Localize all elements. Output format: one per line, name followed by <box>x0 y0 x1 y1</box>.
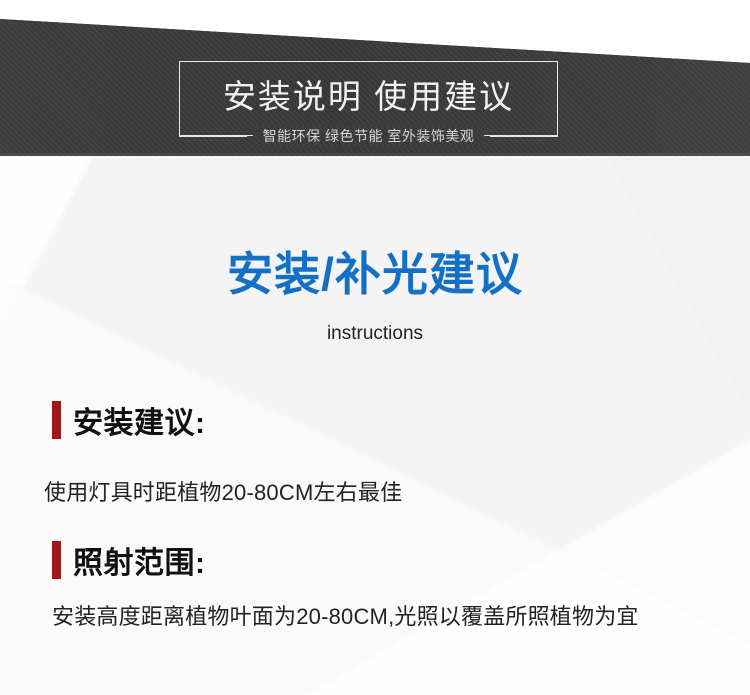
section-coverage-body: 安装高度距离植物叶面为20-80CM,光照以覆盖所照植物为宜 <box>52 601 732 633</box>
section-coverage-heading: 照射范围: <box>52 540 206 580</box>
section-install-body: 使用灯具时距植物20-80CM左右最佳 <box>44 477 704 509</box>
section-coverage-range: 照射范围: <box>52 540 206 580</box>
section-install-heading: 安装建议: <box>52 400 206 440</box>
page-title-english: instructions <box>0 323 750 345</box>
section-install-title: 安装建议: <box>73 398 206 442</box>
section-coverage-title: 照射范围: <box>73 538 206 582</box>
content-area: 安装/补光建议 instructions 安装建议: 使用灯具时距植物20-80… <box>0 156 750 695</box>
red-bar-icon <box>52 401 61 439</box>
subtitle-rule-left <box>179 136 247 138</box>
section-install-advice: 安装建议: <box>52 400 206 440</box>
product-detail-page: 安装说明 使用建议 智能环保 绿色节能 室外装饰美观 安装/补光建议 instr… <box>0 0 750 695</box>
banner-title: 安装说明 使用建议 <box>179 63 558 125</box>
page-title: 安装/补光建议 <box>0 238 750 304</box>
content-inner: 安装/补光建议 instructions 安装建议: 使用灯具时距植物20-80… <box>0 156 750 695</box>
banner-subtitle-row: 智能环保 绿色节能 室外装饰美观 <box>179 124 558 148</box>
header-banner: 安装说明 使用建议 智能环保 绿色节能 室外装饰美观 <box>0 0 750 156</box>
red-bar-icon <box>52 541 61 579</box>
banner-subtitle: 智能环保 绿色节能 室外装饰美观 <box>253 126 485 146</box>
subtitle-rule-right <box>490 136 558 138</box>
